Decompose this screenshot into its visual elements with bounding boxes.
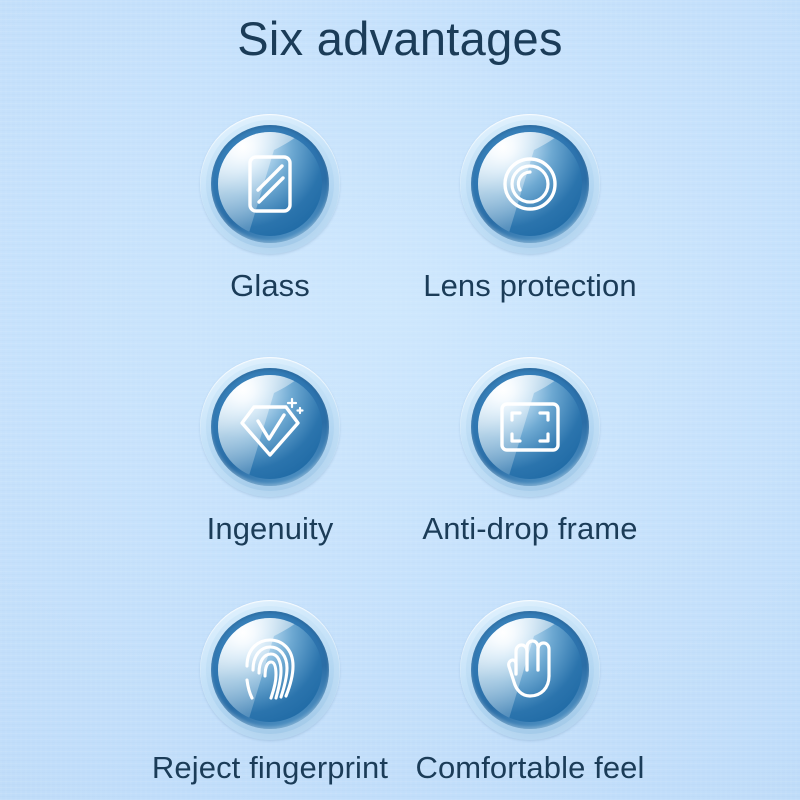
badge-comfortable-feel [460, 600, 600, 740]
feature-label: Ingenuity [207, 511, 334, 547]
feature-label: Lens protection [423, 268, 636, 304]
features-row: Reject fingerprint [0, 586, 800, 800]
feature-item-reject-fingerprint: Reject fingerprint [140, 586, 400, 786]
diamond-check-icon [218, 375, 322, 479]
feature-item-ingenuity: Ingenuity [140, 343, 400, 547]
feature-item-glass: Glass [140, 100, 400, 304]
camera-lens-icon [478, 132, 582, 236]
promo-graphic: Six advantages [0, 0, 800, 800]
features-grid: Glass [0, 100, 800, 800]
features-row: Glass [0, 100, 800, 343]
fingerprint-icon [218, 618, 322, 722]
feature-label: Comfortable feel [415, 750, 644, 786]
feature-item-lens-protection: Lens protection [400, 100, 660, 304]
badge-glass [200, 114, 340, 254]
feature-label: Anti-drop frame [422, 511, 637, 547]
badge-ingenuity [200, 357, 340, 497]
feature-item-anti-drop-frame: Anti-drop frame [400, 343, 660, 547]
open-hand-icon [478, 618, 582, 722]
glass-screen-icon [218, 132, 322, 236]
feature-label: Glass [230, 268, 310, 304]
features-row: Ingenuity [0, 343, 800, 586]
badge-lens-protection [460, 114, 600, 254]
badge-anti-drop-frame [460, 357, 600, 497]
corner-frame-icon [478, 375, 582, 479]
feature-item-comfortable-feel: Comfortable feel [400, 586, 660, 786]
badge-reject-fingerprint [200, 600, 340, 740]
feature-label: Reject fingerprint [152, 750, 388, 786]
page-title: Six advantages [0, 6, 800, 72]
